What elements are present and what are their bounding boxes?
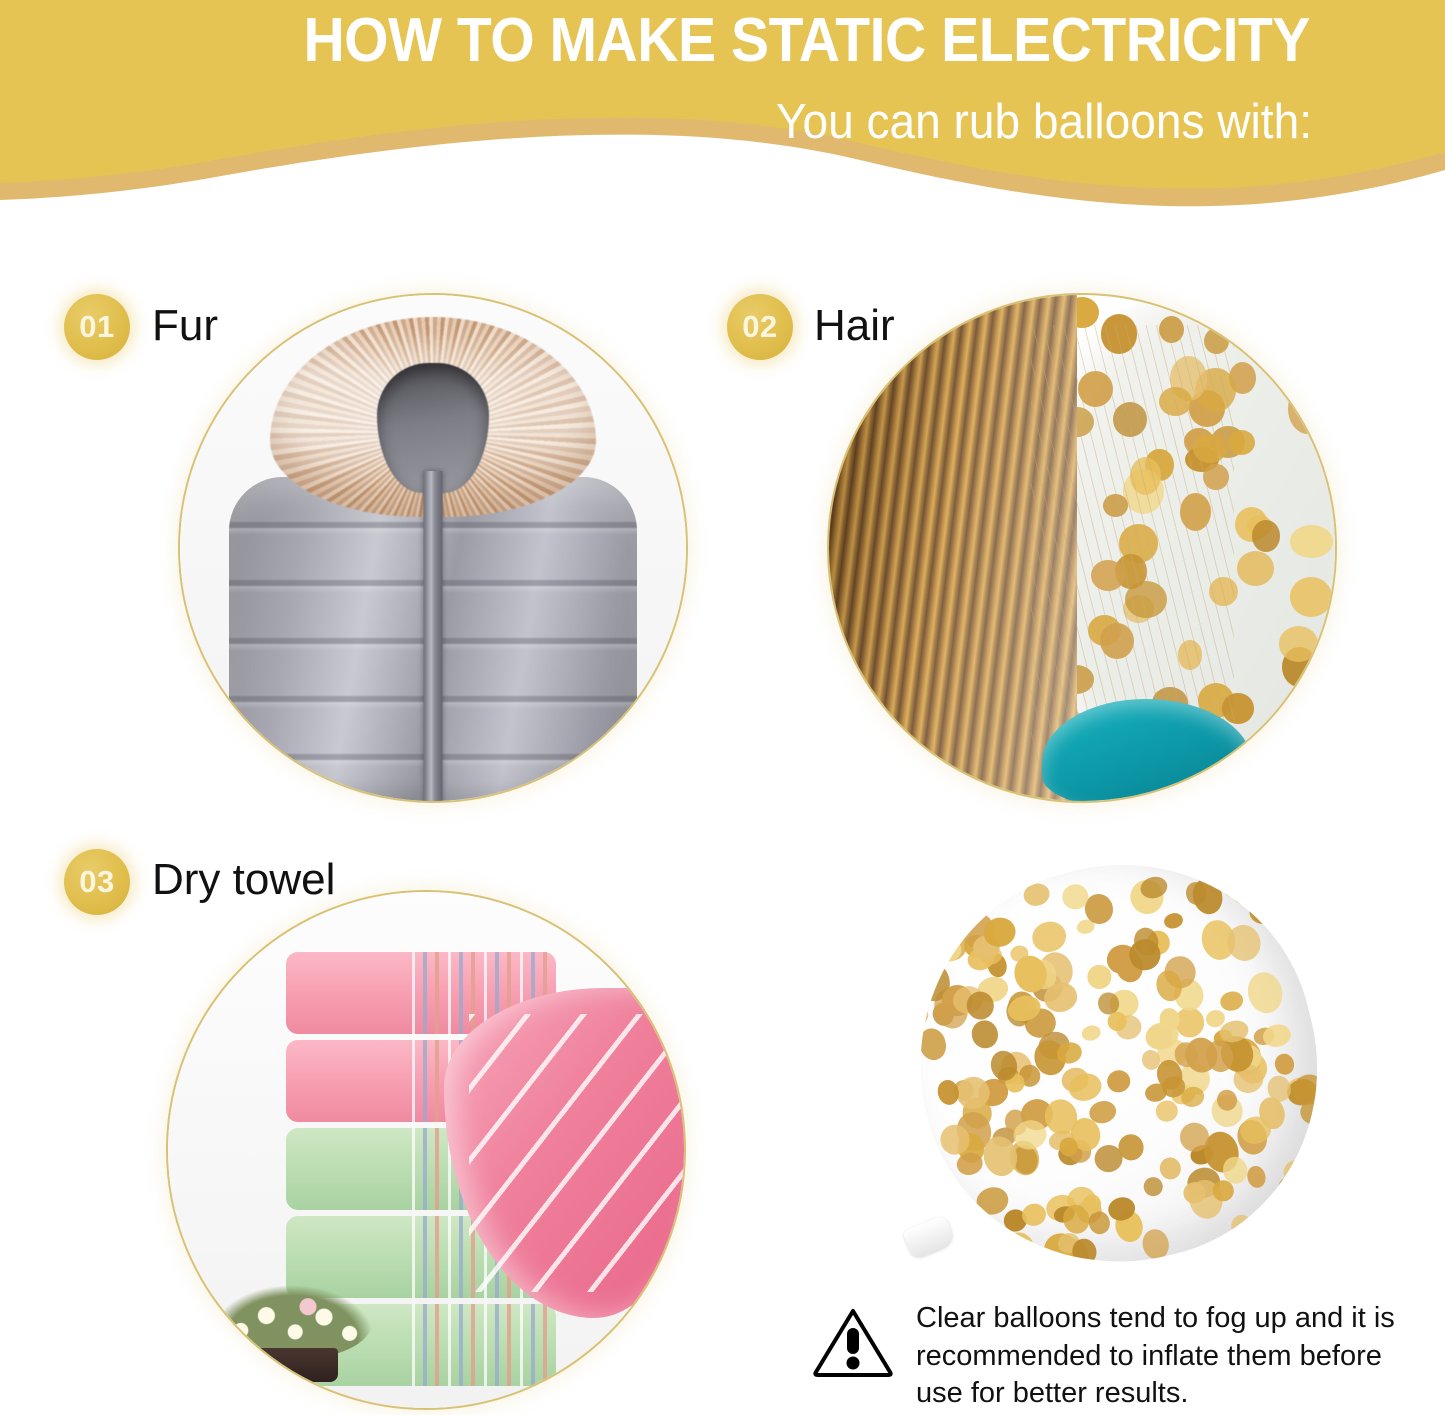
photo-hair-balloon (827, 293, 1337, 803)
warning-note: Clear balloons tend to fog up and it is … (812, 1300, 1412, 1413)
towel-draped-pink (444, 988, 686, 1318)
page-title: HOW TO MAKE STATIC ELECTRICITY (105, 8, 1310, 75)
photo-dry-towels (166, 890, 686, 1410)
jacket-illustration (180, 295, 686, 801)
balloon-neck (902, 1214, 956, 1259)
photo-fur-jacket (178, 293, 688, 803)
warning-text: Clear balloons tend to fog up and it is … (916, 1300, 1408, 1413)
jacket-zipper (424, 471, 443, 803)
step-badge-03: 03 (64, 849, 130, 915)
flower-pot-decoration (212, 1278, 372, 1382)
header-banner: HOW TO MAKE STATIC ELECTRICITY You can r… (0, 0, 1445, 215)
page-subtitle: You can rub balloons with: (79, 96, 1312, 150)
warning-triangle-icon (812, 1306, 894, 1383)
step-badge-01: 01 (64, 294, 130, 360)
towel-illustration (168, 892, 684, 1408)
step-badge-02: 02 (727, 294, 793, 360)
